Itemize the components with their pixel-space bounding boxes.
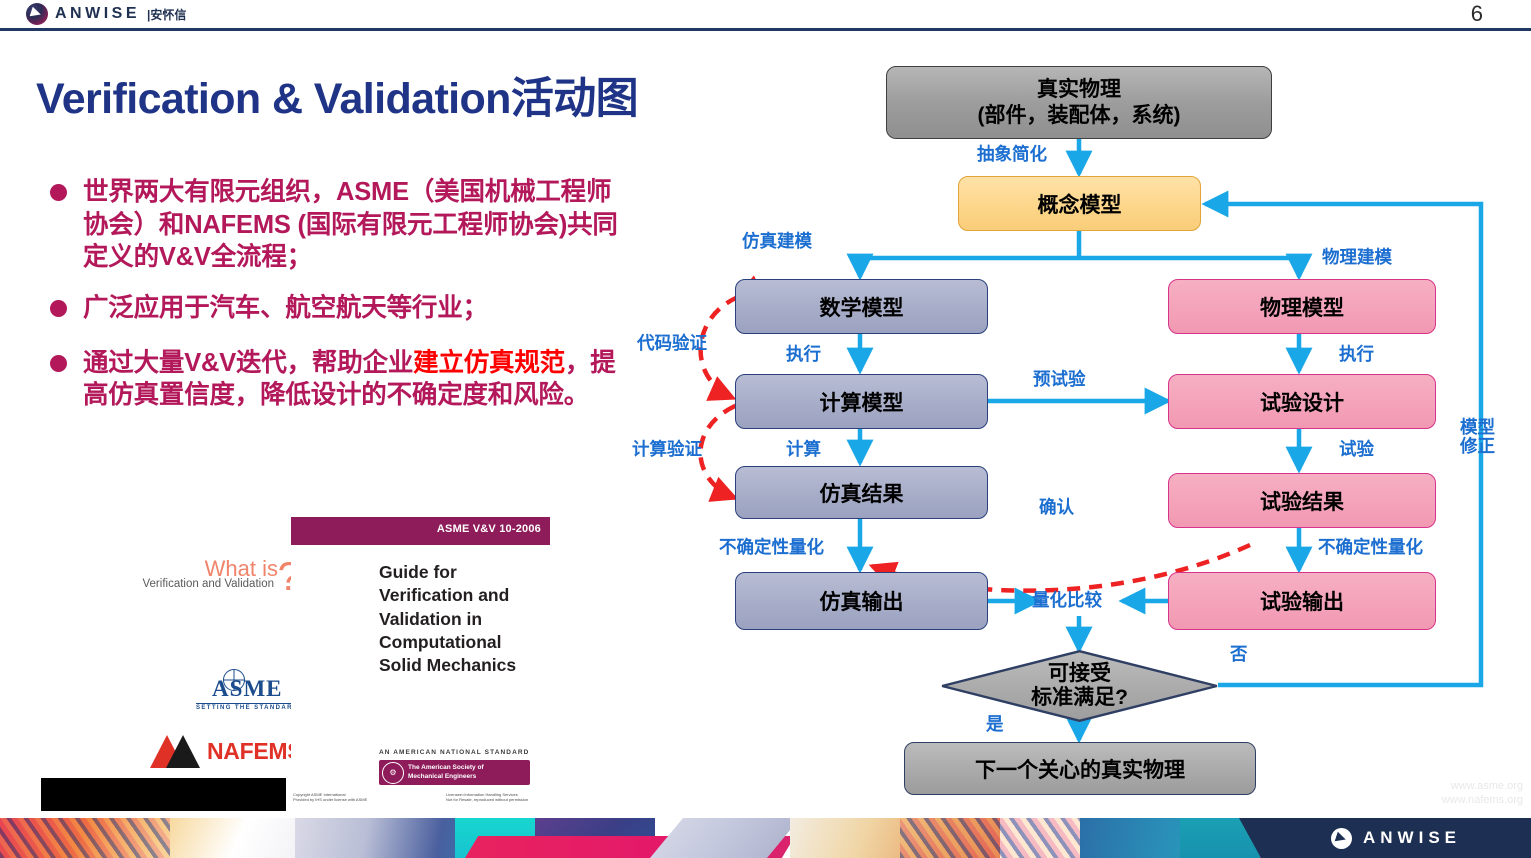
bullet-text: 广泛应用于汽车、航空航天等行业；	[83, 292, 488, 325]
decision-label-line2: 标准满足?	[1031, 686, 1128, 710]
what-is-subheading: Verification and Validation	[105, 578, 300, 590]
node-next-real-physics[interactable]: 下一个关心的真实物理	[904, 742, 1256, 795]
edge-label-calc-verify: 计算验证	[632, 440, 702, 459]
bullet-list: 世界两大有限元组织，ASME（美国机械工程师协会）和NAFEMS (国际有限元工…	[50, 176, 620, 430]
anwise-logo-icon	[26, 3, 48, 25]
globe-icon	[223, 669, 245, 691]
slide-title: Verification & Validation活动图	[36, 64, 638, 126]
page-number: 6	[1471, 1, 1483, 27]
book-asme-society-label: The American Society of Mechanical Engin…	[408, 764, 484, 780]
node-sim-result[interactable]: 仿真结果	[735, 466, 988, 519]
node-concept-model-label: 概念模型	[1038, 189, 1122, 219]
edge-label-model-update-line2: 修正	[1460, 437, 1495, 456]
edge-label-calc: 计算	[786, 440, 821, 459]
edge-label-phys-modeling: 物理建模	[1322, 248, 1392, 267]
node-next-real-physics-label: 下一个关心的真实物理	[975, 754, 1185, 784]
node-sim-result-label: 仿真结果	[820, 478, 904, 508]
nafems-logo: NAFEMS	[150, 734, 302, 768]
node-sim-output-label: 仿真输出	[820, 586, 904, 616]
edge-label-quant-compare: 量化比较	[1032, 591, 1102, 610]
edge-label-code-verify: 代码验证	[637, 334, 707, 353]
bullet-text: 世界两大有限元组织，ASME（美国机械工程师协会）和NAFEMS (国际有限元工…	[83, 176, 620, 274]
edge-label-yes: 是	[986, 715, 1004, 734]
node-decision-acceptable[interactable]: 可接受 标准满足?	[941, 650, 1218, 722]
band-segment	[900, 818, 1090, 858]
node-sim-output[interactable]: 仿真输出	[735, 572, 988, 630]
urls-black-band	[41, 778, 286, 811]
bullet-dot-icon	[50, 300, 67, 317]
edge-label-uq-left: 不确定性量化	[719, 538, 824, 557]
edge-label-exec-left: 执行	[786, 345, 821, 364]
what-is-vv-image: What is ? Verification and Validation	[105, 558, 300, 590]
node-compute-model-label: 计算模型	[820, 387, 904, 417]
bullet-text-plain: 通过大量V&V迭代，帮助企业	[83, 349, 413, 377]
urls-text: www.asme.org www.nafems.org	[1442, 780, 1523, 808]
brand-name: ANWISE	[55, 5, 140, 23]
edge-label-pretest: 预试验	[1033, 370, 1086, 389]
book-fineprint-right: Licensee=Information Handling Services N…	[446, 792, 550, 802]
nafems-black-triangle	[166, 735, 200, 768]
edge-label-confirm: 确认	[1039, 498, 1074, 517]
node-test-output-label: 试验输出	[1260, 586, 1344, 616]
edge-label-test: 试验	[1339, 440, 1374, 459]
edge-label-uq-right: 不确定性量化	[1318, 538, 1423, 557]
node-physics-model-label: 物理模型	[1260, 292, 1344, 322]
node-math-model-label: 数学模型	[820, 292, 904, 322]
book-title: Guide for Verification and Validation in…	[379, 561, 544, 677]
brand-name-cn: |安怀信	[147, 6, 186, 23]
bullet-item: 广泛应用于汽车、航空航天等行业；	[50, 292, 620, 325]
node-math-model[interactable]: 数学模型	[735, 279, 988, 334]
nafems-wordmark: NAFEMS	[207, 738, 302, 765]
bullet-text-highlight: 建立仿真规范	[413, 349, 565, 377]
decision-label: 可接受 标准满足?	[941, 650, 1218, 722]
footer-brand-name: ANWISE	[1363, 828, 1461, 848]
node-test-design[interactable]: 试验设计	[1168, 374, 1436, 429]
asme-book-cover: ASME V&V 10-2006 Guide for Verification …	[291, 517, 550, 810]
top-header-bar: ANWISE |安怀信 6	[0, 0, 1531, 29]
edge-label-abstract: 抽象简化	[977, 145, 1047, 164]
anwise-footer-logo-icon	[1331, 828, 1352, 849]
what-is-heading: What is	[105, 558, 300, 580]
asme-seal-icon: ⚙	[382, 762, 404, 784]
node-test-design-label: 试验设计	[1260, 387, 1344, 417]
decision-label-line1: 可接受	[1048, 662, 1111, 686]
nafems-triangles-icon	[150, 734, 200, 768]
node-real-physics-line2: (部件，装配体，系统)	[978, 103, 1181, 128]
asme-tagline: SETTING THE STANDARD	[196, 703, 299, 711]
footer-brand-panel: ANWISE	[1261, 818, 1531, 858]
edge-label-no: 否	[1230, 645, 1248, 664]
node-test-result-label: 试验结果	[1260, 486, 1344, 516]
band-segment	[0, 818, 170, 858]
asme-logo: ASME SETTING THE STANDARD	[196, 676, 299, 711]
bullet-item: 世界两大有限元组织，ASME（美国机械工程师协会）和NAFEMS (国际有限元工…	[50, 176, 620, 274]
edge-label-model-update: 模型 修正	[1460, 418, 1495, 457]
brand-logo: ANWISE |安怀信	[26, 3, 186, 25]
node-compute-model[interactable]: 计算模型	[735, 374, 988, 429]
book-fineprint-left: Copyright ASME International Provided by…	[293, 792, 403, 802]
header-divider-rule	[0, 28, 1531, 31]
node-concept-model[interactable]: 概念模型	[958, 176, 1201, 231]
node-test-result[interactable]: 试验结果	[1168, 473, 1436, 528]
book-standard-number: ASME V&V 10-2006	[437, 523, 541, 535]
node-real-physics[interactable]: 真实物理 (部件，装配体，系统)	[886, 66, 1272, 139]
node-real-physics-line1: 真实物理	[1037, 77, 1121, 102]
edge-label-sim-modeling: 仿真建模	[742, 232, 812, 251]
bullet-text: 通过大量V&V迭代，帮助企业建立仿真规范，提高仿真置信度，降低设计的不确定度和风…	[83, 347, 620, 412]
edge-label-model-update-line1: 模型	[1460, 418, 1495, 437]
edge-label-exec-right: 执行	[1339, 345, 1374, 364]
bullet-dot-icon	[50, 355, 67, 372]
node-test-output[interactable]: 试验输出	[1168, 572, 1436, 630]
bullet-item: 通过大量V&V迭代，帮助企业建立仿真规范，提高仿真置信度，降低设计的不确定度和风…	[50, 347, 620, 412]
node-physics-model[interactable]: 物理模型	[1168, 279, 1436, 334]
book-asme-seal-bar: ⚙ The American Society of Mechanical Eng…	[379, 760, 530, 785]
bullet-dot-icon	[50, 184, 67, 201]
book-ansi-label: AN AMERICAN NATIONAL STANDARD	[379, 749, 529, 756]
asme-wordmark: ASME	[196, 676, 299, 702]
